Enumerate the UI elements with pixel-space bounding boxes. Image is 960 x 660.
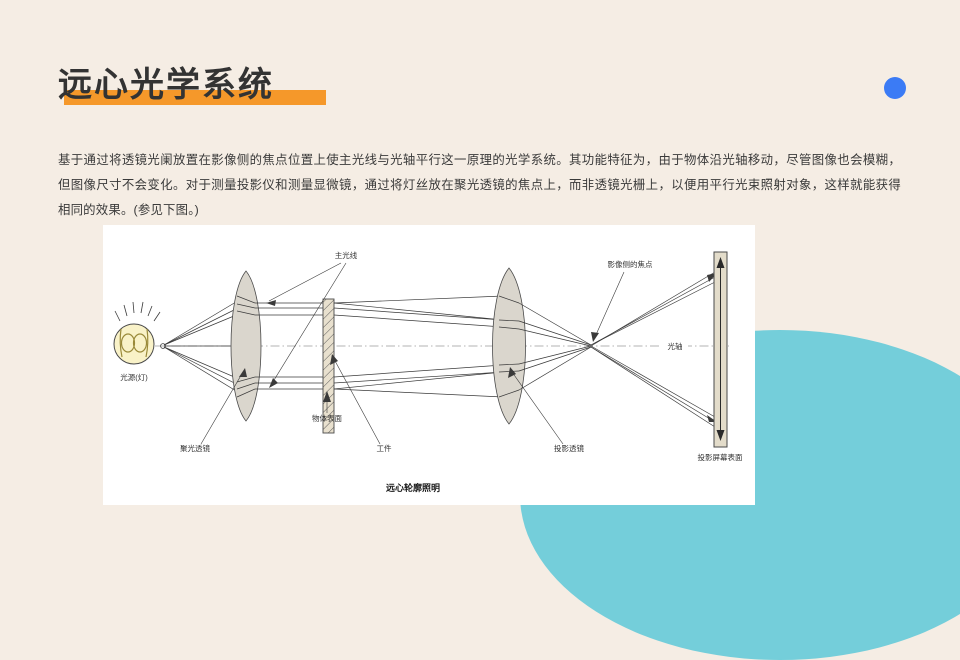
label-optical-axis: 光轴 (668, 341, 683, 351)
projection-screen (714, 252, 727, 447)
page-title: 远心光学系统 (58, 63, 274, 107)
light-source-lamp (114, 302, 160, 364)
label-object-surface: 物体表面 (312, 413, 342, 423)
condenser-lens (231, 271, 261, 421)
telecentric-optics-diagram: 光源(灯) (103, 225, 755, 505)
label-workpiece: 工件 (377, 443, 392, 453)
diagram-caption: 远心轮廓照明 (386, 482, 440, 493)
label-light-source: 光源(灯) (120, 372, 148, 382)
diagram-panel: 光源(灯) (103, 225, 755, 505)
blue-dot-decoration (884, 77, 906, 99)
leader-image-side-focal-point (591, 272, 624, 342)
label-condenser-lens: 聚光透镜 (180, 443, 210, 453)
rays-workpiece-to-projection-lens (334, 296, 503, 397)
label-image-side-focal-point: 影像侧的焦点 (608, 259, 653, 269)
label-chief-ray: 主光线 (335, 250, 358, 260)
title-block: 远心光学系统 (58, 63, 274, 107)
leader-chief-ray (266, 263, 350, 388)
leader-workpiece (330, 354, 380, 444)
label-projection-screen-surface: 投影屏幕表面 (698, 452, 743, 462)
label-projection-lens: 投影透镜 (554, 443, 584, 453)
workpiece-plate (323, 299, 334, 433)
projection-lens (493, 268, 526, 424)
body-paragraph: 基于通过将透镜光阑放置在影像侧的焦点位置上使主光线与光轴平行这一原理的光学系统。… (58, 148, 901, 223)
